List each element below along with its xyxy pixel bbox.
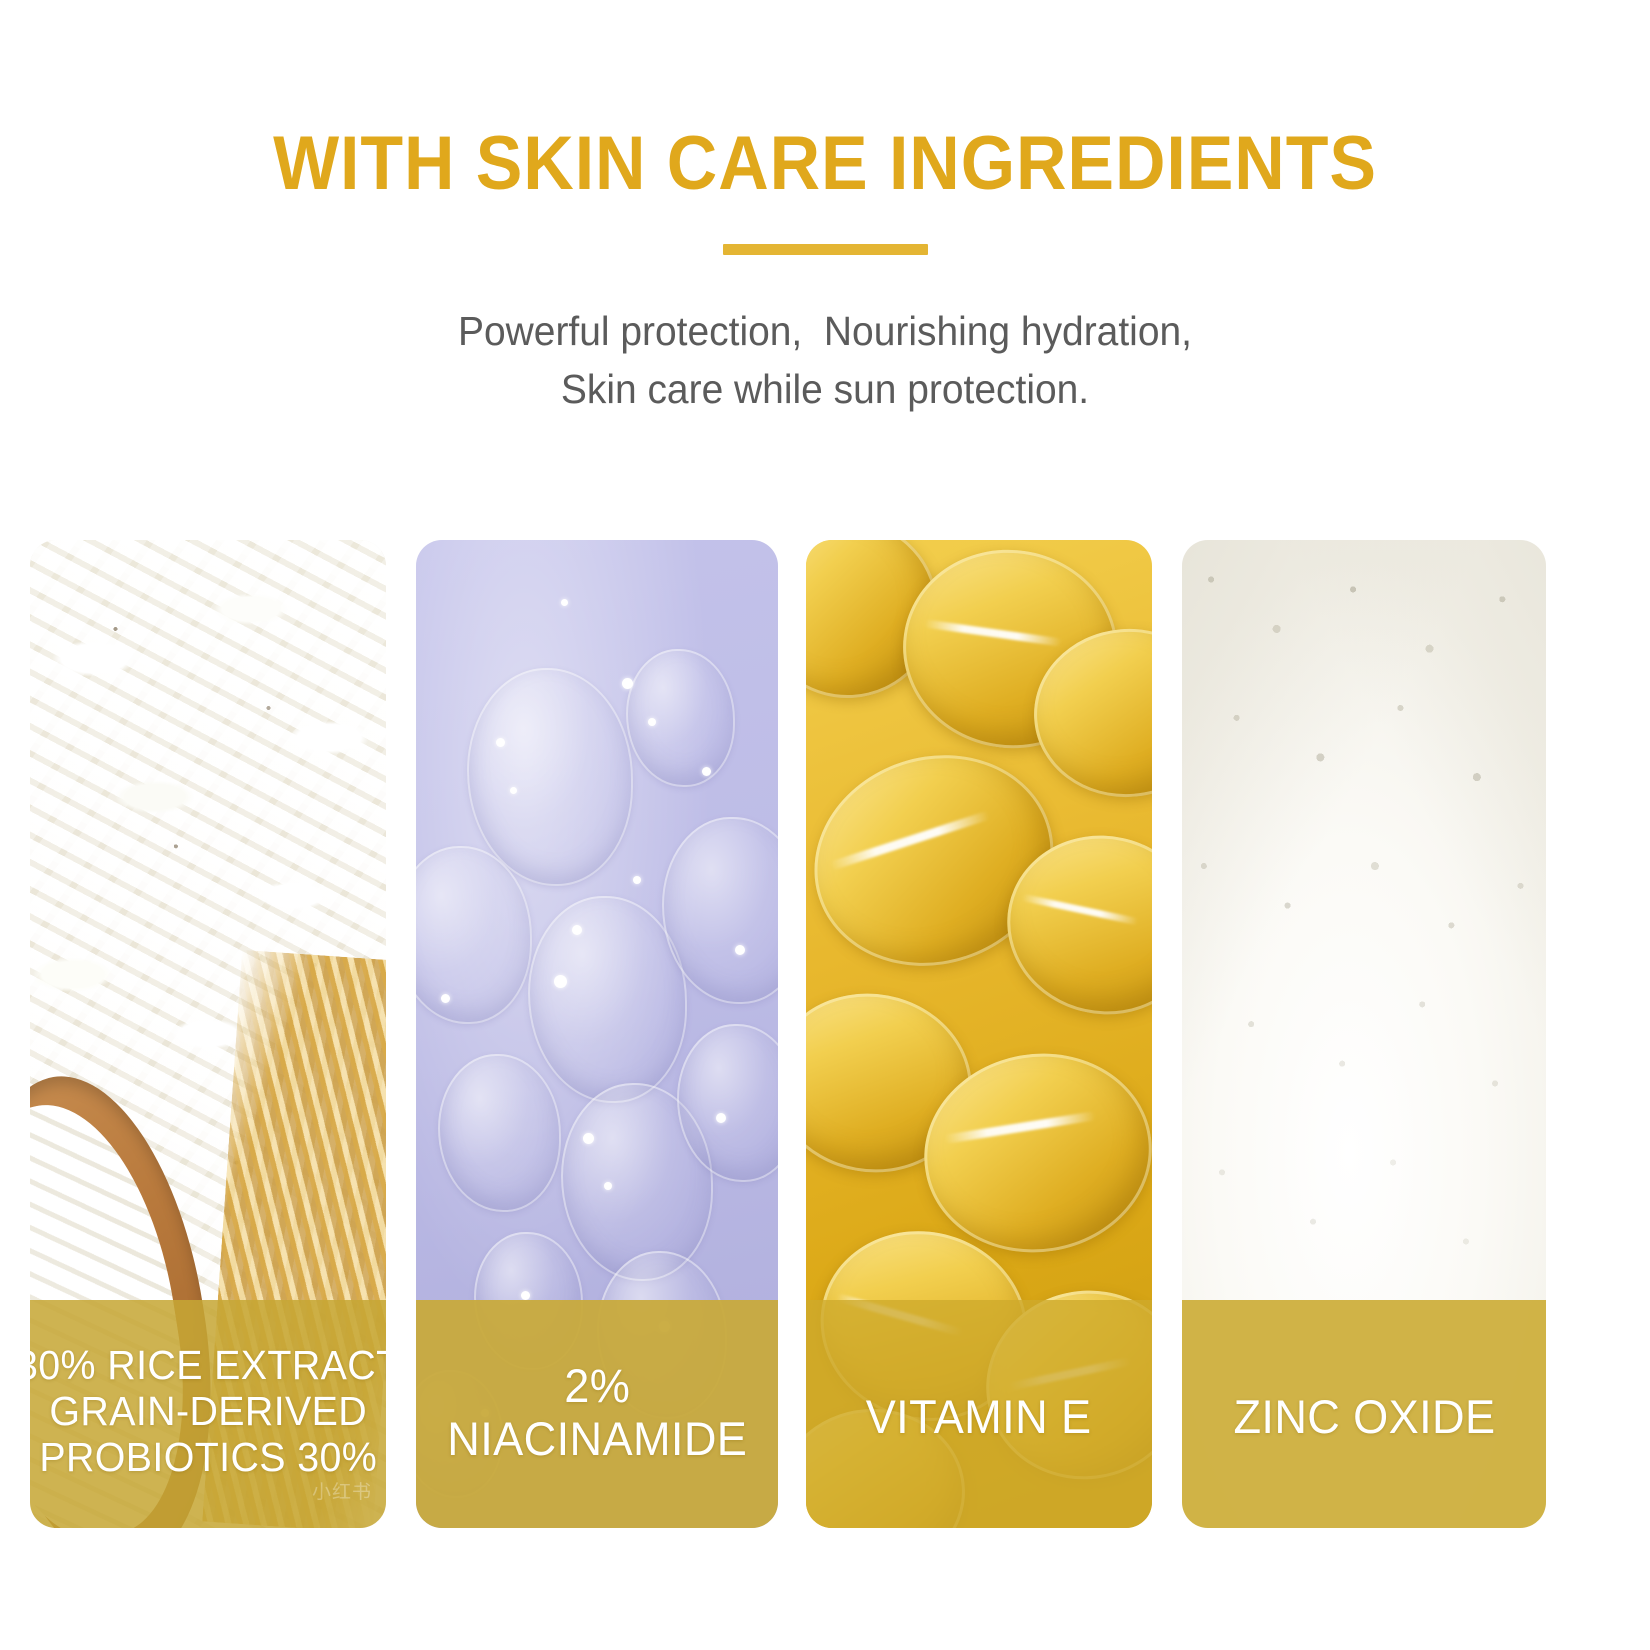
- ingredient-card-niacinamide[interactable]: 2% NIACINAMIDE: [416, 540, 778, 1528]
- card-label-band: 2% NIACINAMIDE: [416, 1300, 778, 1528]
- gold-divider: [723, 244, 928, 255]
- page-title: WITH SKIN CARE INGREDIENTS: [66, 0, 1584, 210]
- bubble-sparkle: [554, 975, 567, 988]
- ingredient-label: ZINC OXIDE: [1233, 1390, 1495, 1443]
- card-label-band: 30% RICE EXTRACT GRAIN-DERIVED PROBIOTIC…: [30, 1300, 386, 1528]
- ingredient-label-line: 2%: [447, 1359, 747, 1412]
- subtitle-line-2: Skin care while sun protection.: [41, 360, 1609, 418]
- watermark-text: 小红书: [312, 1477, 372, 1504]
- bubble-sparkle: [521, 1291, 530, 1300]
- ingredient-label: 30% RICE EXTRACT GRAIN-DERIVED PROBIOTIC…: [30, 1342, 386, 1481]
- page-subtitle: Powerful protection, Nourishing hydratio…: [41, 260, 1609, 418]
- ingredient-label: 2% NIACINAMIDE: [447, 1359, 747, 1465]
- header: WITH SKIN CARE INGREDIENTS Powerful prot…: [0, 0, 1650, 418]
- ingredient-card-vitamin-e[interactable]: VITAMIN E: [806, 540, 1152, 1528]
- bubble-sparkle: [648, 718, 656, 726]
- bubble-sparkle: [496, 738, 505, 747]
- card-label-band: ZINC OXIDE: [1182, 1300, 1546, 1528]
- ingredient-label-line: ZINC OXIDE: [1233, 1390, 1495, 1443]
- ingredient-label-line: NIACINAMIDE: [447, 1412, 747, 1465]
- card-label-band: VITAMIN E: [806, 1300, 1152, 1528]
- ingredient-card-rice-extract[interactable]: 30% RICE EXTRACT GRAIN-DERIVED PROBIOTIC…: [30, 540, 386, 1528]
- ingredient-label-line: 30% RICE EXTRACT: [30, 1342, 386, 1388]
- ingredient-card-row: 30% RICE EXTRACT GRAIN-DERIVED PROBIOTIC…: [0, 540, 1650, 1528]
- ingredient-label-line: PROBIOTICS 30%: [30, 1434, 386, 1480]
- ingredient-label-line: GRAIN-DERIVED: [30, 1388, 386, 1434]
- ingredient-label-line: VITAMIN E: [866, 1390, 1092, 1443]
- ingredient-label: VITAMIN E: [866, 1390, 1092, 1443]
- bubble-sparkle: [572, 925, 582, 935]
- divider-wrapper: [0, 242, 1650, 260]
- bubble-sparkle: [583, 1133, 594, 1144]
- bubble-sparkle: [735, 945, 745, 955]
- ingredient-card-zinc-oxide[interactable]: ZINC OXIDE: [1182, 540, 1546, 1528]
- subtitle-line-1: Powerful protection, Nourishing hydratio…: [41, 302, 1609, 360]
